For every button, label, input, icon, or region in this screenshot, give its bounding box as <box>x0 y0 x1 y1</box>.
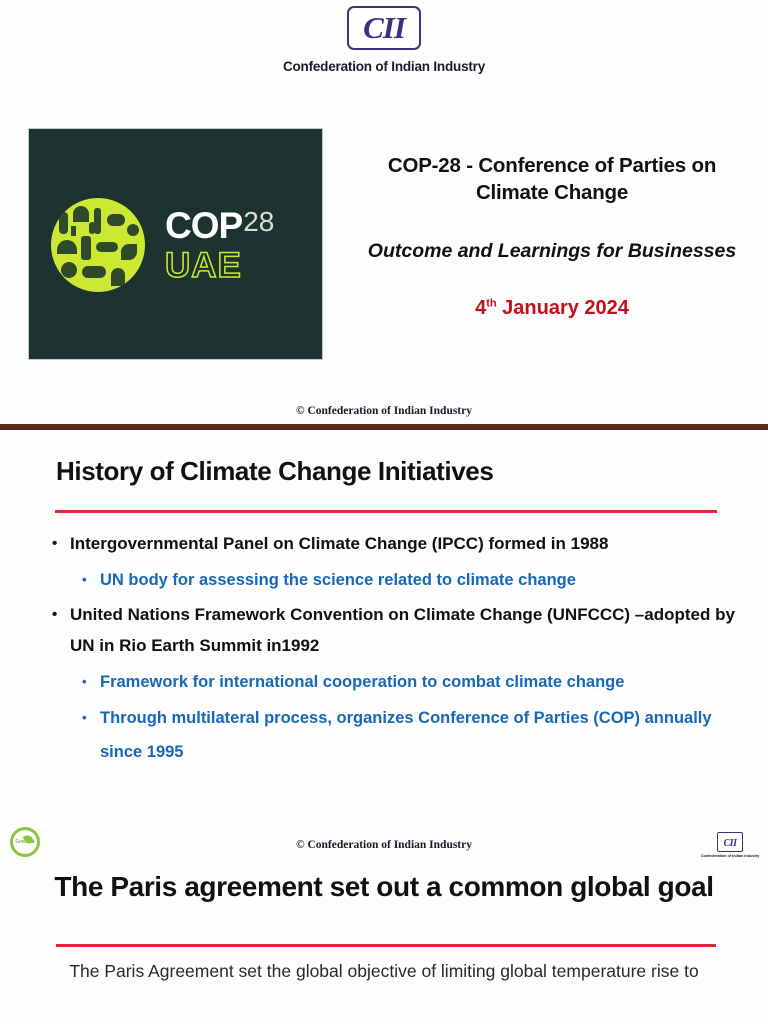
cop28-logo-lockup: COP 28 UAE <box>51 187 307 303</box>
slide-cover: CII Confederation of Indian Industry <box>0 0 768 430</box>
cop28-icon-circle <box>51 198 145 292</box>
cop-text: COP <box>165 207 242 244</box>
slide-footer-copyright: © Confederation of Indian Industry <box>0 839 768 851</box>
body-text: The Paris Agreement set the global objec… <box>0 956 768 986</box>
cop-number-text: 28 <box>243 208 274 236</box>
slide-history: History of Climate Change Initiatives In… <box>0 432 768 862</box>
date-rest: January 2024 <box>497 297 629 319</box>
presentation-date: 4th January 2024 <box>352 297 752 320</box>
bullet-list: Intergovernmental Panel on Climate Chang… <box>48 528 748 771</box>
cii-logo-text: CII <box>363 11 405 44</box>
bullet-item: United Nations Framework Convention on C… <box>48 599 748 661</box>
cii-logo-small: CII Confederation of Indian Industry <box>700 832 760 858</box>
bullet-item: Framework for international cooperation … <box>48 665 748 699</box>
cop28-wordmark: COP 28 UAE <box>165 207 307 283</box>
cii-logo-small-text: CII <box>724 838 737 849</box>
slide-divider-band <box>0 424 768 430</box>
bullet-item: Intergovernmental Panel on Climate Chang… <box>48 528 748 559</box>
date-suffix: th <box>486 297 496 309</box>
bullet-item: UN body for assessing the science relate… <box>48 563 748 597</box>
cii-logo-small-box: CII <box>717 832 744 852</box>
slide-paris-agreement: The Paris agreement set out a common glo… <box>0 864 768 1024</box>
page-subtitle: Outcome and Learnings for Businesses <box>352 238 752 265</box>
cii-brand-name: Confederation of Indian Industry <box>0 59 768 74</box>
cop-uae-text: UAE <box>165 248 307 283</box>
section-heading: The Paris agreement set out a common glo… <box>0 869 768 905</box>
cii-logo: CII <box>347 6 421 50</box>
cii-logo-small-name: Confederation of Indian Industry <box>700 853 760 858</box>
heading-underline <box>56 944 716 947</box>
cii-brand-header: CII Confederation of Indian Industry <box>0 6 768 74</box>
slide-footer-copyright: © Confederation of Indian Industry <box>0 405 768 417</box>
bullet-item: Through multilateral process, organizes … <box>48 701 748 769</box>
heading-underline <box>55 510 717 513</box>
cover-title-block: COP-28 - Conference of Parties on Climat… <box>352 152 752 320</box>
cop28-uae-logo-image: COP 28 UAE <box>28 128 323 360</box>
section-heading: History of Climate Change Initiatives <box>56 456 493 487</box>
date-day: 4 <box>475 297 486 319</box>
page-title: COP-28 - Conference of Parties on Climat… <box>352 152 752 206</box>
